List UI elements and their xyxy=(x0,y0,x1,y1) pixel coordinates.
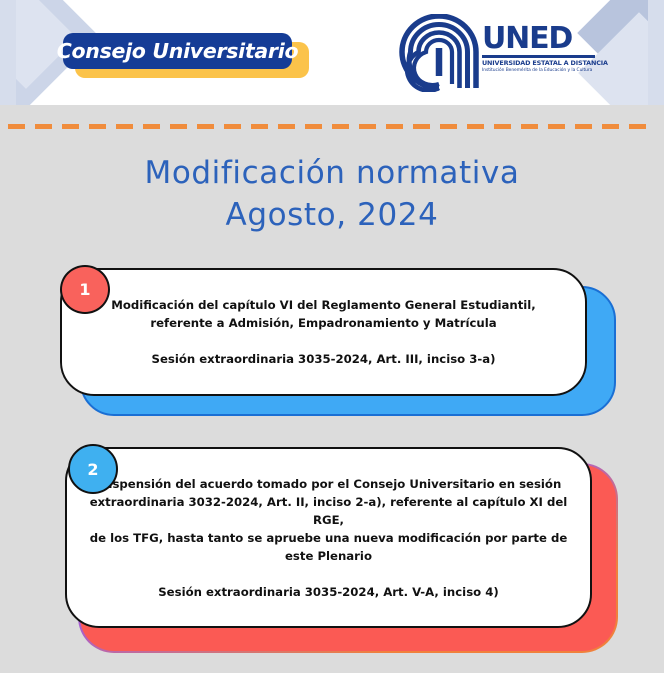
card-1-number-badge: 1 xyxy=(60,265,110,314)
card-2-body: Suspensión del acuerdo tomado por el Con… xyxy=(65,447,592,628)
page-title-line-2: Agosto, 2024 xyxy=(0,194,664,236)
uned-wordmark-block: UNED UNIVERSIDAD ESTATAL A DISTANCIA Ins… xyxy=(482,24,598,73)
badge-label: Consejo Universitario xyxy=(57,39,299,63)
header-stripe-left xyxy=(0,0,16,105)
card-2-text: Suspensión del acuerdo tomado por el Con… xyxy=(67,475,590,601)
dashed-divider xyxy=(8,124,656,129)
item-card-1: Modificación del capítulo VI del Reglame… xyxy=(60,268,616,416)
page-title-line-1: Modificación normativa xyxy=(0,152,664,194)
item-card-2: Suspensión del acuerdo tomado por el Con… xyxy=(65,447,616,651)
badge-blue-plate: Consejo Universitario xyxy=(63,33,292,69)
card-2-number-badge: 2 xyxy=(68,444,118,494)
card-1-number: 1 xyxy=(79,280,90,299)
card-1-body: Modificación del capítulo VI del Reglame… xyxy=(60,268,587,396)
uned-tagline: UNIVERSIDAD ESTATAL A DISTANCIA xyxy=(482,60,600,67)
header-band: Consejo Universitario UNED UNIVERSIDAD E… xyxy=(0,0,664,105)
uned-wordmark-text: UNED xyxy=(482,24,598,54)
card-2-number: 2 xyxy=(87,460,98,479)
uned-logo: UNED UNIVERSIDAD ESTATAL A DISTANCIA Ins… xyxy=(398,14,598,92)
uned-arch-mark xyxy=(398,14,480,92)
card-1-text: Modificación del capítulo VI del Reglame… xyxy=(99,296,548,368)
uned-subtagline: Institución Benemérita de la Educación y… xyxy=(482,68,598,73)
header-stripe-right xyxy=(648,0,664,105)
page-title: Modificación normativa Agosto, 2024 xyxy=(0,152,664,236)
consejo-universitario-badge: Consejo Universitario xyxy=(63,33,309,78)
